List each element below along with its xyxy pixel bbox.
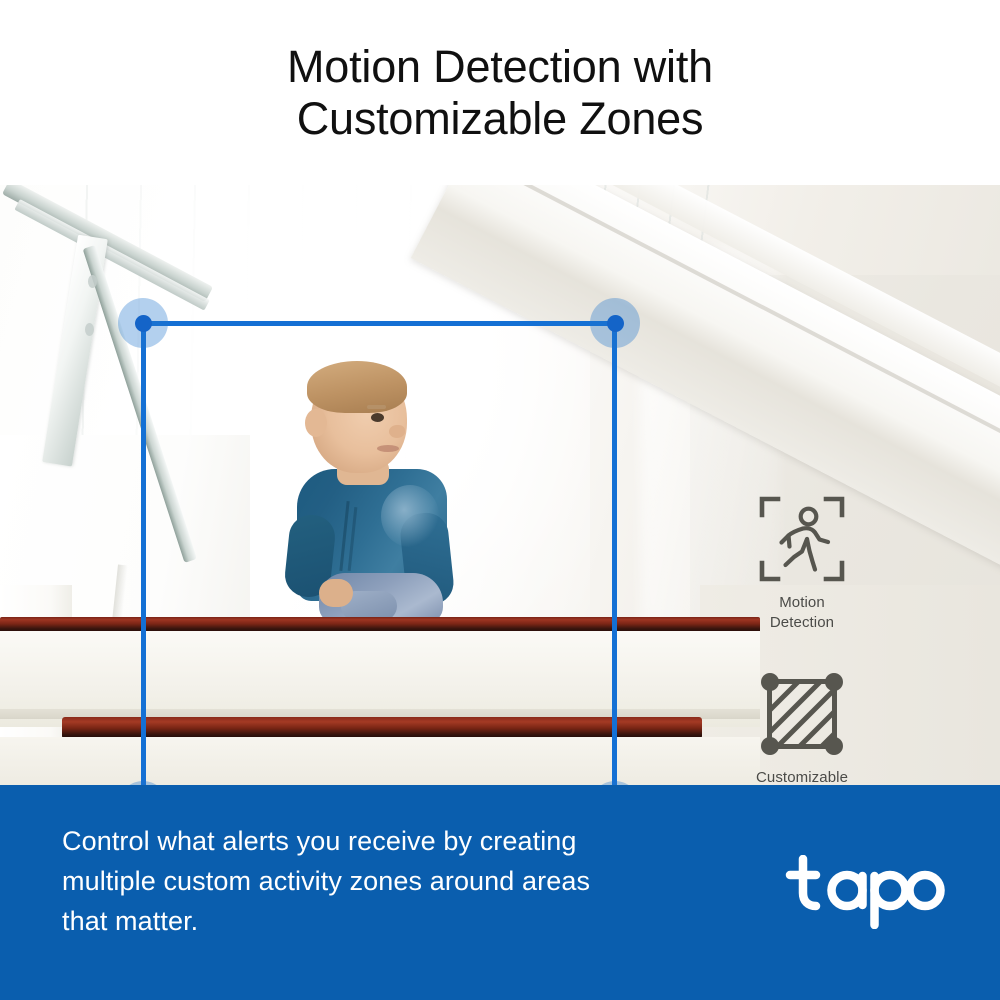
header: Motion Detection with Customizable Zones — [0, 0, 1000, 185]
bottom-banner: Control what alerts you receive by creat… — [0, 785, 1000, 1000]
motion-detection-icon — [758, 495, 846, 583]
selection-edge-left[interactable] — [141, 323, 146, 785]
feature-label-motion-line-1: Motion — [770, 593, 834, 613]
page-title-line-1: Motion Detection with — [287, 41, 713, 93]
selection-edge-right[interactable] — [612, 323, 617, 785]
tapo-wordmark-icon — [785, 855, 945, 929]
feature-label-zones: Customizable Activity Zones — [755, 768, 850, 785]
selection-handle-top-left[interactable] — [135, 315, 152, 332]
banner-copy-line-1: Control what alerts you receive by creat… — [62, 821, 682, 861]
promo-page: Motion Detection with Customizable Zones — [0, 0, 1000, 1000]
feature-motion-detection: Motion Detection — [692, 495, 912, 633]
activity-zone-selection[interactable] — [143, 323, 615, 785]
banner-copy: Control what alerts you receive by creat… — [62, 821, 682, 941]
selection-edge-top[interactable] — [143, 321, 615, 326]
post-detail-2 — [85, 323, 94, 336]
banner-copy-line-2: multiple custom activity zones around ar… — [62, 861, 682, 901]
selection-handle-top-right[interactable] — [607, 315, 624, 332]
banner-copy-line-3: that matter. — [62, 901, 682, 941]
feature-label-zones-line-1: Customizable — [755, 768, 850, 785]
scene-photo: Motion Detection — [0, 185, 1000, 785]
feature-label-motion-line-2: Detection — [770, 613, 834, 633]
feature-label-motion: Motion Detection — [770, 593, 834, 633]
customizable-activity-zones-icon — [758, 670, 846, 758]
post-detail-1 — [88, 275, 97, 288]
page-title-line-2: Customizable Zones — [297, 93, 704, 145]
tapo-logo — [785, 855, 945, 934]
feature-activity-zones: Customizable Activity Zones — [692, 670, 912, 785]
